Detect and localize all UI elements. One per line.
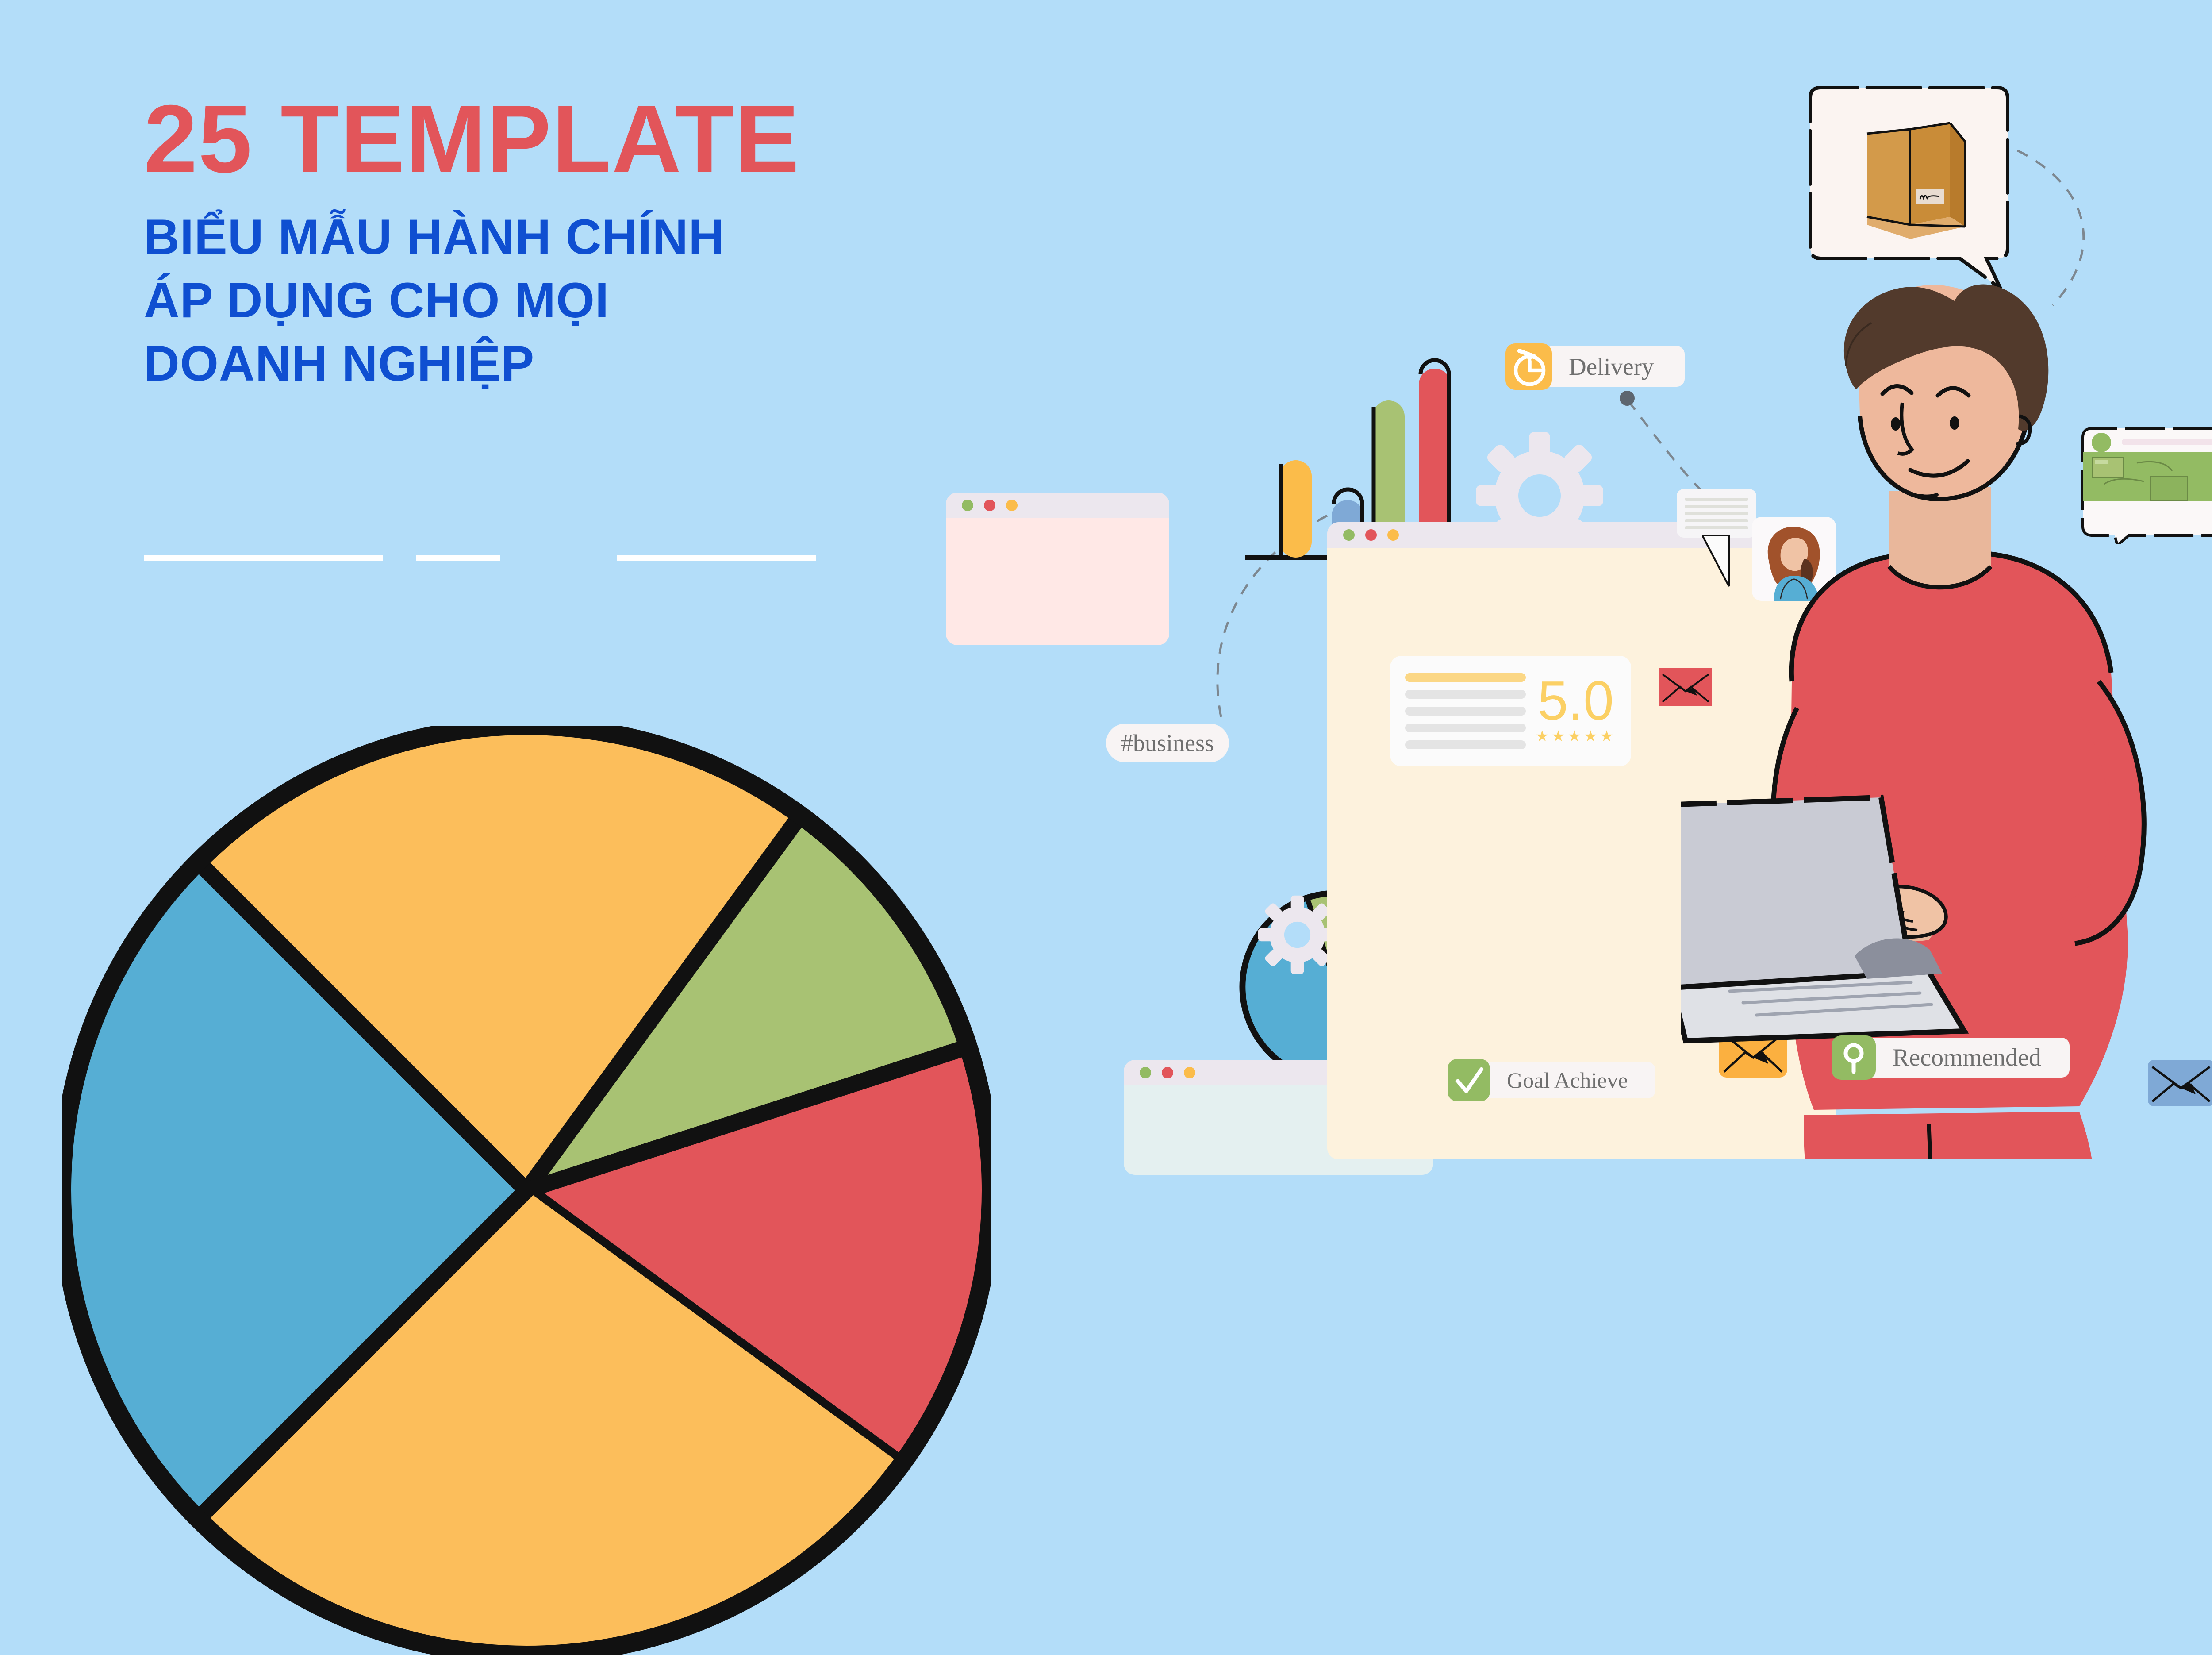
review-rating-card: 5.0 ★★★★★: [1390, 656, 1631, 766]
goal-achieve-badge-label: Goal Achieve: [1495, 1067, 1640, 1093]
review-line-4: [1405, 724, 1526, 732]
review-line-2: [1405, 690, 1526, 699]
review-line-3: [1405, 707, 1526, 716]
traffic-light-green-dot[interactable]: [1343, 529, 1355, 541]
poster-canvas: 25 TEMPLATE BIỂU MẪU HÀNH CHÍNH ÁP DỤNG …: [0, 0, 2212, 1158]
review-line-1: [1405, 673, 1526, 682]
rating-score: 5.0: [1538, 677, 1614, 725]
traffic-light-red-dot[interactable]: [1162, 1067, 1173, 1078]
gear-icon-small: [1256, 894, 1338, 976]
delivery-badge[interactable]: Delivery: [1534, 346, 1685, 387]
traffic-light-yellow-dot[interactable]: [1006, 500, 1018, 511]
window-titlebar: [946, 493, 1169, 518]
pink-browser-window[interactable]: [946, 493, 1169, 645]
search-icon: [1832, 1035, 1876, 1080]
large-pie-chart: [62, 726, 991, 1655]
window-content-area: [946, 518, 1169, 645]
traffic-light-green-dot[interactable]: [1140, 1067, 1151, 1078]
traffic-light-green-dot[interactable]: [962, 500, 973, 511]
rating-stars: ★★★★★: [1536, 727, 1616, 745]
goal-achieve-badge[interactable]: Goal Achieve: [1469, 1062, 1655, 1098]
hashtag-badge[interactable]: #business: [1106, 724, 1229, 762]
hashtag-badge-label: #business: [1106, 729, 1229, 757]
traffic-light-yellow-dot[interactable]: [1387, 529, 1399, 541]
package-speech-bubble: [1801, 84, 2017, 292]
review-score-block: 5.0 ★★★★★: [1536, 677, 1616, 745]
recommended-badge-label: Recommended: [1881, 1043, 2053, 1072]
traffic-light-red-dot[interactable]: [1365, 529, 1377, 541]
review-line-5: [1405, 740, 1526, 749]
recommended-badge[interactable]: Recommended: [1854, 1038, 2070, 1078]
stopwatch-icon: [1505, 343, 1552, 390]
man-with-laptop-illustration: [1681, 283, 2212, 1159]
review-text-lines: [1405, 673, 1526, 749]
check-icon: [1448, 1059, 1490, 1101]
delivery-badge-label: Delivery: [1557, 353, 1665, 381]
cardboard-package-icon: [1867, 123, 1965, 239]
traffic-light-red-dot[interactable]: [984, 500, 995, 511]
traffic-light-yellow-dot[interactable]: [1184, 1067, 1195, 1078]
